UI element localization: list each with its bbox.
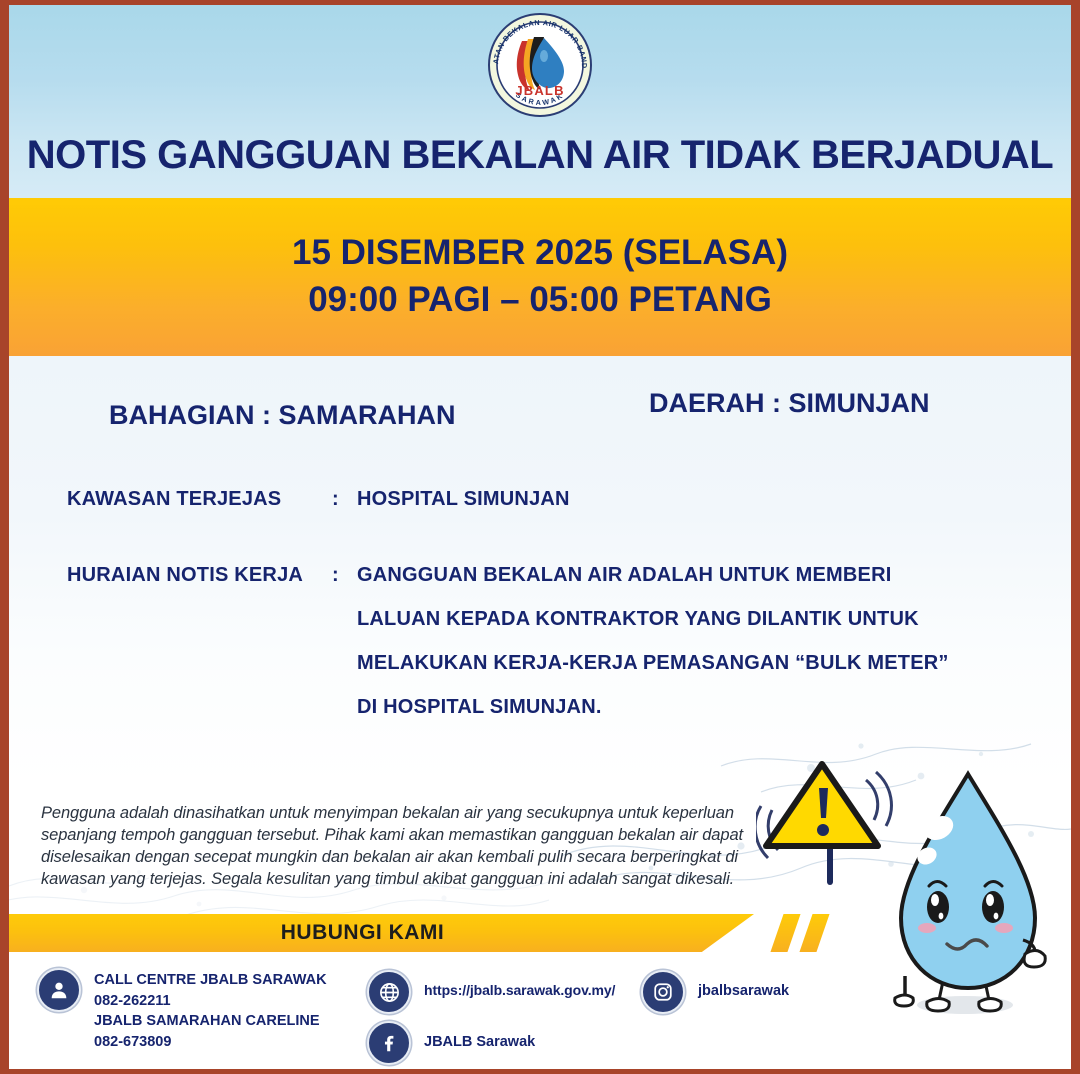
call-centre-line-4: 082-673809 [94,1032,327,1053]
contacts-section: CALL CENTRE JBALB SARAWAK 082-262211 JBA… [9,966,1071,1069]
website-label: https://jbalb.sarawak.gov.my/ [424,970,615,1001]
work-notice-line-1: GANGGUAN BEKALAN AIR ADALAH UNTUK MEMBER… [357,564,949,587]
call-centre-text: CALL CENTRE JBALB SARAWAK 082-262211 JBA… [94,968,327,1052]
instagram-icon [641,970,685,1014]
contact-website[interactable]: https://jbalb.sarawak.gov.my/ [367,970,615,1014]
work-notice-line-4: DI HOSPITAL SIMUNJAN. [357,696,949,719]
date-banner: 15 DISEMBER 2025 (SELASA) 09:00 PAGI – 0… [9,198,1071,356]
affected-area-value: HOSPITAL SIMUNJAN [357,488,570,511]
call-centre-line-1: CALL CENTRE JBALB SARAWAK [94,970,327,991]
work-notice-label: HURAIAN NOTIS KERJA [67,564,317,587]
facebook-icon [367,1021,411,1065]
call-centre-line-2: 082-262211 [94,991,327,1012]
notice-poster: JABATAN BEKALAN AIR LUAR BANDAR SARAWAK … [0,0,1080,1074]
globe-icon [367,970,411,1014]
instagram-label: jbalbsarawak [698,970,789,1002]
person-icon [37,968,81,1012]
work-notice-line-3: MELAKUKAN KERJA-KERJA PEMASANGAN “BULK M… [357,652,949,675]
notice-date: 15 DISEMBER 2025 (SELASA) [292,230,788,277]
contact-instagram[interactable]: jbalbsarawak [641,970,789,1014]
work-notice-line-2: LALUAN KEPADA KONTRAKTOR YANG DILANTIK U… [357,608,949,631]
work-notice-colon: : [332,564,339,587]
work-notice-row: HURAIAN NOTIS KERJA : GANGGUAN BEKALAN A… [67,564,1031,744]
body-section: BAHAGIAN : SAMARAHAN DAERAH : SIMUNJAN K… [9,356,1071,1069]
affected-area-colon: : [332,488,339,511]
facebook-label: JBALB Sarawak [424,1021,535,1053]
contact-banner: HUBUNGI KAMI [9,914,754,952]
details-block: KAWASAN TERJEJAS : HOSPITAL SIMUNJAN HUR… [67,488,1031,774]
header-band: JABATAN BEKALAN AIR LUAR BANDAR SARAWAK … [9,5,1071,198]
svg-text:JBALB: JBALB [515,83,564,98]
region-row: BAHAGIAN : SAMARAHAN DAERAH : SIMUNJAN [9,400,1071,444]
page-title: NOTIS GANGGUAN BEKALAN AIR TIDAK BERJADU… [9,133,1071,178]
advisory-text: Pengguna adalah dinasihatkan untuk menyi… [41,803,781,891]
division-label: BAHAGIAN : SAMARAHAN [109,400,455,431]
jbalb-logo: JABATAN BEKALAN AIR LUAR BANDAR SARAWAK … [486,11,594,119]
banner-stripe-2 [799,914,829,952]
notice-time: 09:00 PAGI – 05:00 PETANG [308,277,772,324]
banner-stripe-1 [770,914,800,952]
contact-call-centre[interactable]: CALL CENTRE JBALB SARAWAK 082-262211 JBA… [37,968,327,1052]
contact-banner-title: HUBUNGI KAMI [281,921,445,945]
affected-area-label: KAWASAN TERJEJAS [67,488,317,511]
district-label: DAERAH : SIMUNJAN [649,388,930,419]
work-notice-value: GANGGUAN BEKALAN AIR ADALAH UNTUK MEMBER… [357,564,949,719]
jbalb-logo-icon: JABATAN BEKALAN AIR LUAR BANDAR SARAWAK … [486,11,594,119]
contact-facebook[interactable]: JBALB Sarawak [367,1021,535,1065]
call-centre-line-3: JBALB SAMARAHAN CARELINE [94,1011,327,1032]
affected-area-row: KAWASAN TERJEJAS : HOSPITAL SIMUNJAN [67,488,1031,522]
